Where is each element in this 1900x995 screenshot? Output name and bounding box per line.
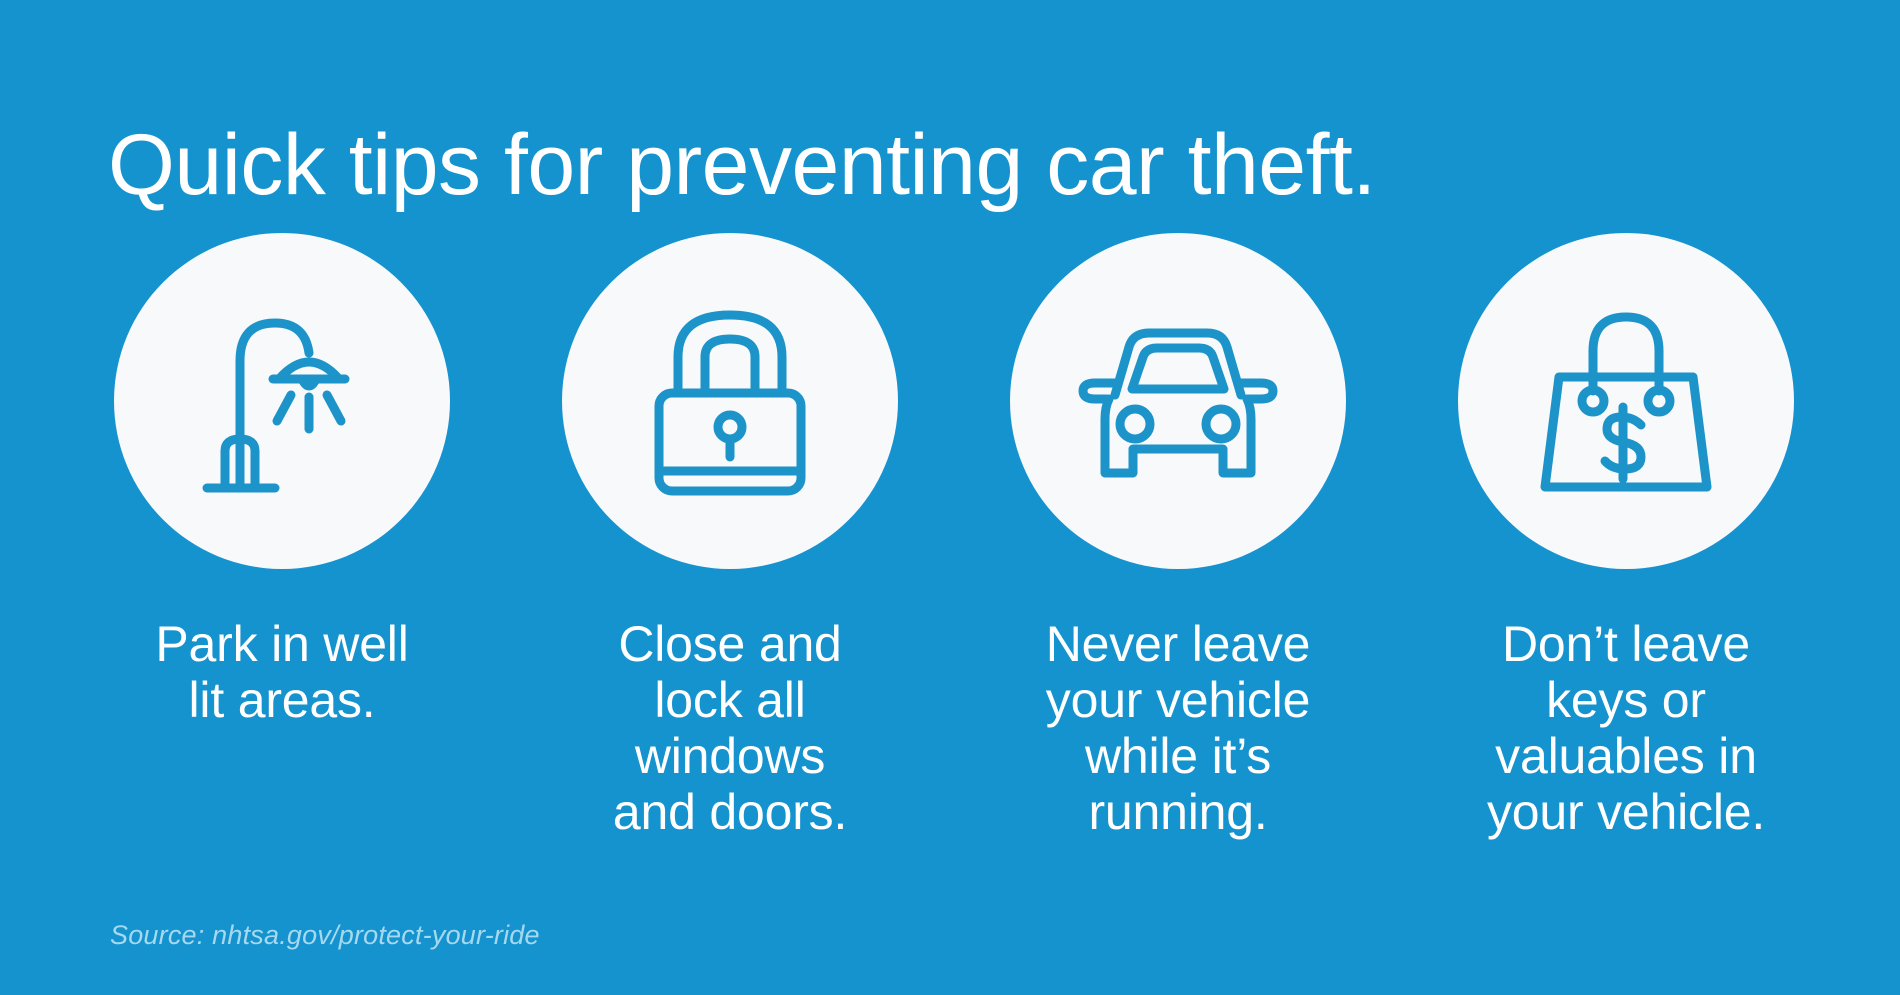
- tip-card-no-valuables: Don’t leave keys or valuables in your ve…: [1440, 233, 1812, 840]
- tip-card-never-leave-running: Never leave your vehicle while it’s runn…: [992, 233, 1364, 840]
- tip-caption-2: Close and lock all windows and doors.: [613, 616, 847, 840]
- icon-badge-3: [1010, 233, 1346, 569]
- tip-card-lock-up: Close and lock all windows and doors.: [544, 233, 916, 840]
- icon-badge-4: [1458, 233, 1794, 569]
- infographic-poster: Quick tips for preventing car theft.: [0, 0, 1900, 995]
- tip-caption-3: Never leave your vehicle while it’s runn…: [1046, 616, 1311, 840]
- tips-row: Park in well lit areas.: [96, 233, 1812, 840]
- car-front-icon: [1075, 321, 1281, 481]
- handbag-dollar-icon: [1537, 305, 1715, 497]
- page-title: Quick tips for preventing car theft.: [108, 120, 1376, 210]
- street-lamp-icon: [197, 301, 367, 501]
- source-attribution: Source: nhtsa.gov/protect-your-ride: [110, 920, 540, 951]
- tip-caption-1: Park in well lit areas.: [155, 616, 408, 728]
- tip-caption-4: Don’t leave keys or valuables in your ve…: [1487, 616, 1765, 840]
- tip-card-park-lit: Park in well lit areas.: [96, 233, 468, 728]
- icon-badge-2: [562, 233, 898, 569]
- padlock-icon: [639, 301, 821, 501]
- icon-badge-1: [114, 233, 450, 569]
